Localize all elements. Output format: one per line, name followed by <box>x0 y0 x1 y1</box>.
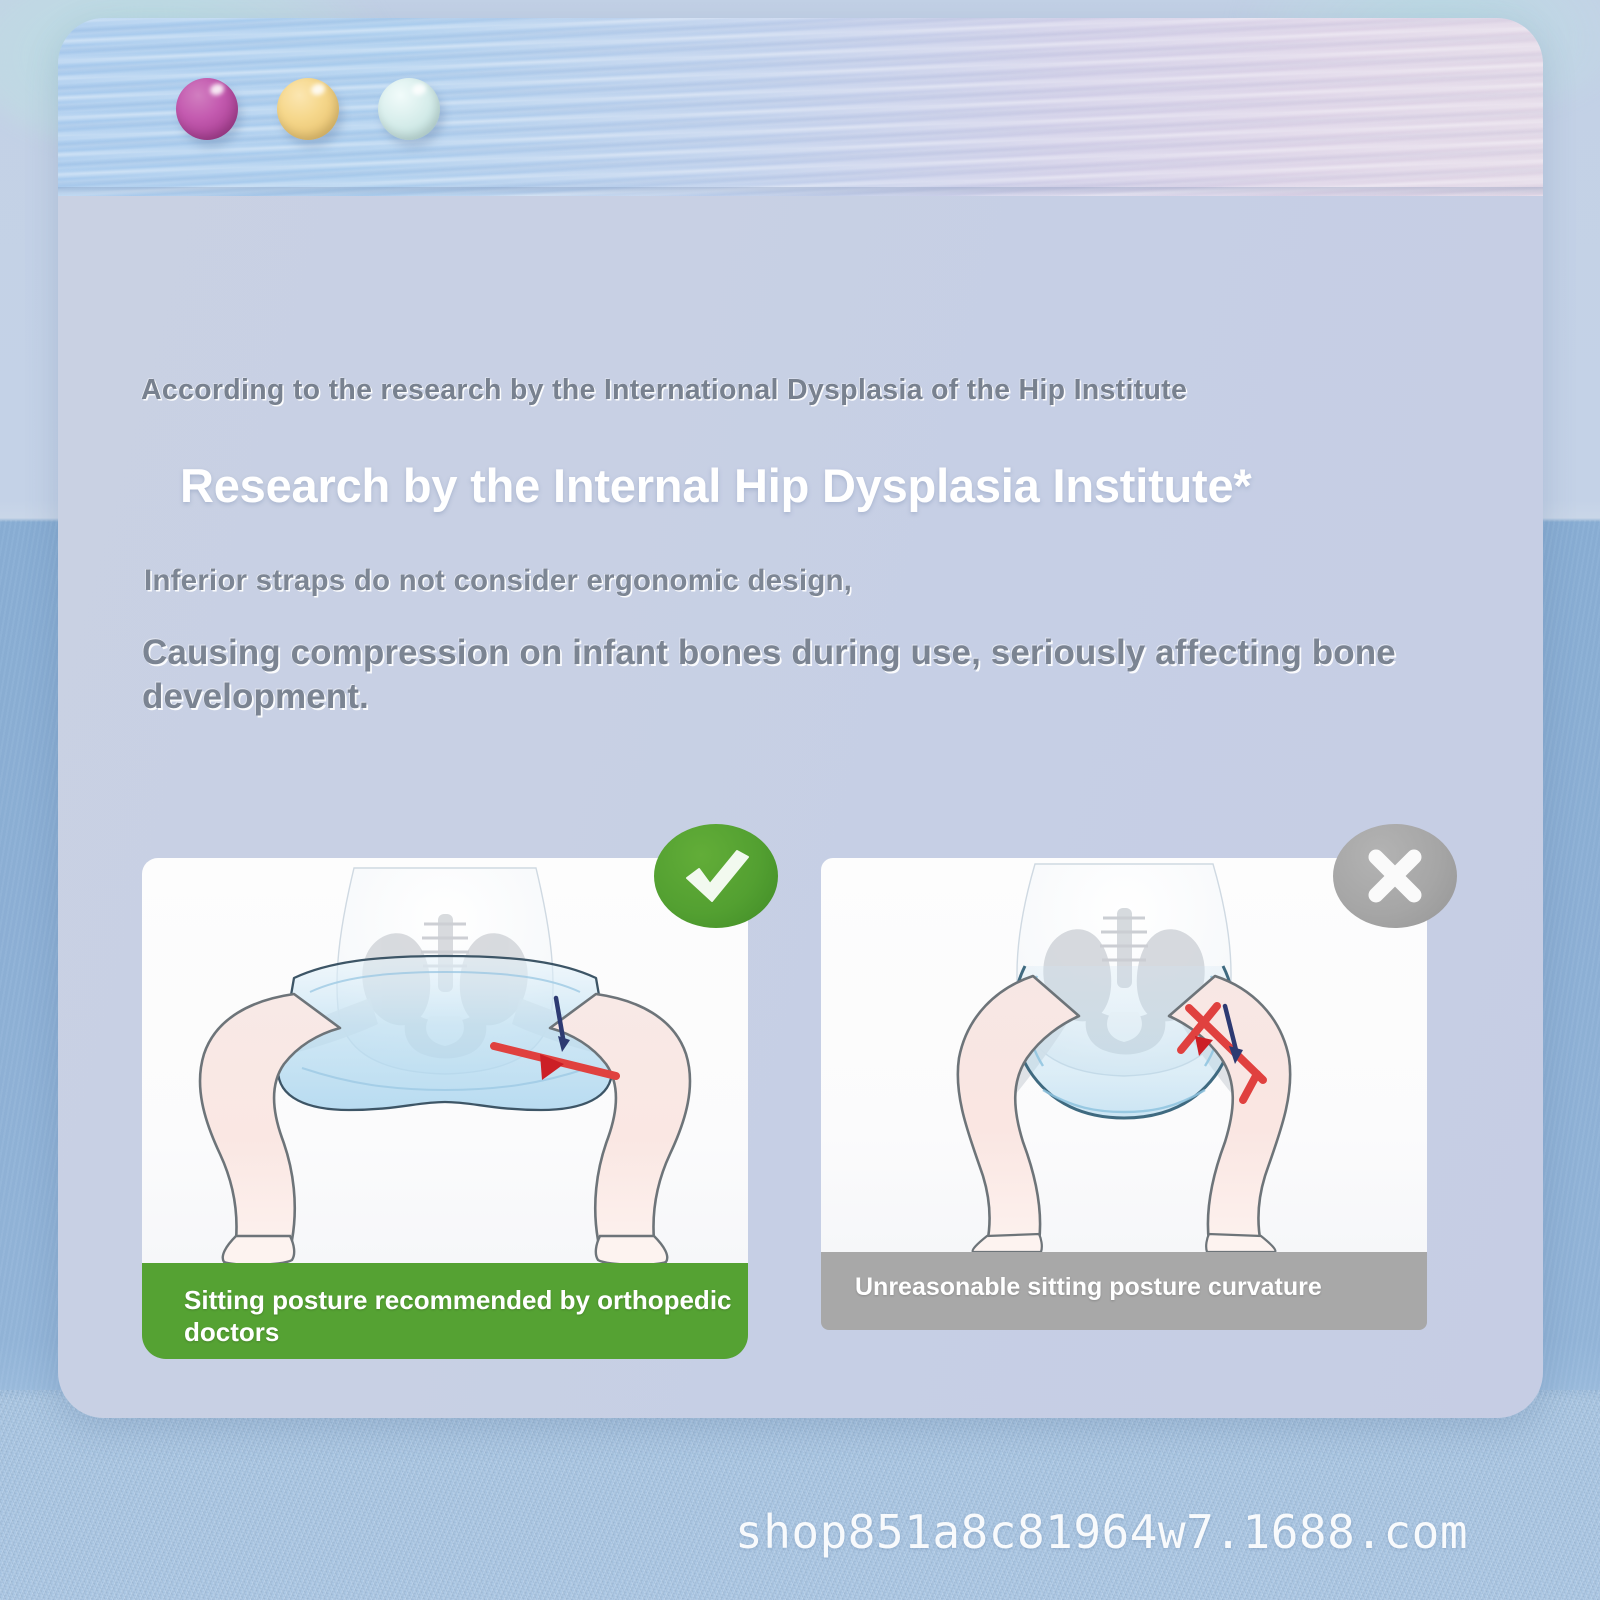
window-dot-amber-icon[interactable] <box>277 78 339 140</box>
infant-hip-wide-diagram <box>142 858 748 1263</box>
check-icon <box>679 845 753 907</box>
illustration-good <box>142 858 748 1263</box>
shop-watermark: shop851a8c81964w7.1688.com <box>735 1505 1468 1559</box>
card-good-caption: Sitting posture recommended by orthopedi… <box>142 1263 748 1359</box>
window-content-area: According to the research by the Interna… <box>58 196 1543 1418</box>
wall-texture-bottom <box>0 1390 1600 1600</box>
window-titlebar <box>58 18 1543 196</box>
kicker-text: According to the research by the Interna… <box>141 374 1461 407</box>
titlebar-bottom-shadow <box>58 187 1543 196</box>
page-background: According to the research by the Interna… <box>0 0 1600 1600</box>
card-good-posture[interactable]: Sitting posture recommended by orthopedi… <box>142 858 748 1359</box>
window-controls <box>176 78 440 140</box>
check-badge <box>654 824 778 928</box>
subtitle-line-1: Inferior straps do not consider ergonomi… <box>144 564 1444 598</box>
comparison-cards: Sitting posture recommended by orthopedi… <box>142 858 1462 1359</box>
infant-hip-narrow-diagram <box>821 858 1427 1252</box>
illustration-bad <box>821 858 1427 1252</box>
subtitle-line-2: Causing compression on infant bones duri… <box>142 631 1522 720</box>
window-dot-magenta-icon[interactable] <box>176 78 238 140</box>
page-title: Research by the Internal Hip Dysplasia I… <box>180 458 1480 513</box>
card-bad-posture[interactable]: Unreasonable sitting posture curvature <box>821 858 1427 1359</box>
window-dot-mint-icon[interactable] <box>378 78 440 140</box>
cross-badge <box>1333 824 1457 928</box>
cross-icon <box>1360 841 1430 911</box>
app-window: According to the research by the Interna… <box>58 18 1543 1418</box>
card-bad-caption: Unreasonable sitting posture curvature <box>821 1252 1427 1330</box>
